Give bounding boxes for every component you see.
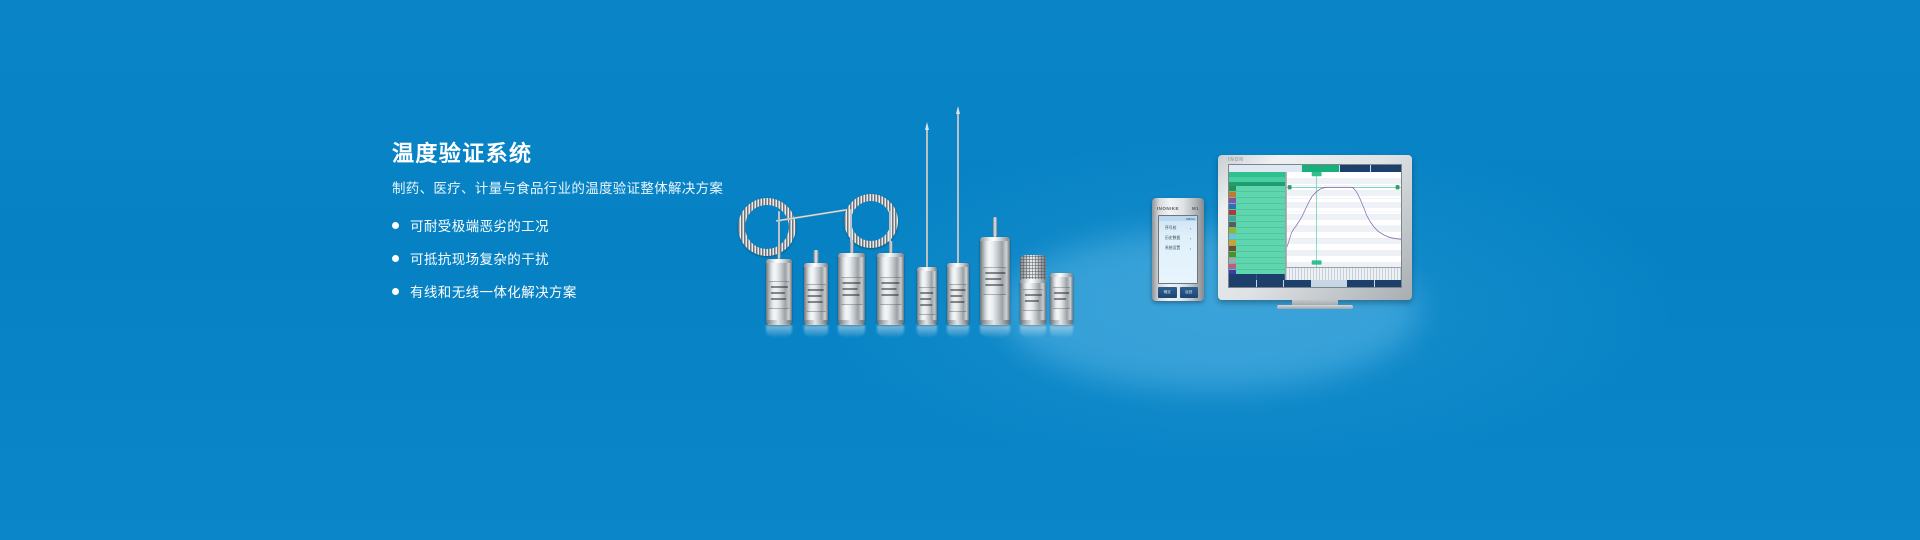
confirm-button[interactable] [1347,280,1374,287]
software-body [1229,172,1401,280]
temperature-chart [1286,172,1401,267]
probe-stem [778,251,781,259]
menu-item-label: 系统设置 [1165,246,1180,251]
reflection [947,325,969,338]
coiled-cable-icon [738,198,796,256]
marker-a-chip [1288,185,1292,189]
channel-color-swatch [1229,216,1236,221]
brand-label: INONIKE [1157,206,1179,211]
logger-label [919,287,935,315]
marker-b-chip [1396,185,1400,189]
logger-body [980,237,1010,325]
model-label: M1 [1192,206,1199,211]
logger-label [807,284,826,312]
logger-body [766,259,792,325]
chart-svg [1287,172,1401,267]
list-item [947,263,969,325]
cursor-end-chip [1312,260,1322,264]
logger-body [1050,273,1073,325]
horizontal-scrollbar[interactable] [1286,267,1401,280]
reflection [877,325,904,338]
menu-item[interactable]: 序号校 › [1165,226,1191,231]
tab-report[interactable] [1340,165,1370,172]
cursor-start-chip [1312,172,1322,176]
menu-item-label: 历史数据 [1165,236,1180,241]
channel-table [1229,186,1285,274]
chevron-right-icon: › [1190,227,1191,231]
channel-color-swatch [1229,204,1236,209]
chart-gridlines [1287,185,1401,252]
handheld-buttons: 确定 返回 [1158,287,1198,298]
software-bottom-bar [1229,280,1401,287]
logger-label [949,284,966,312]
channel-color-swatch [1229,258,1236,263]
reflection [804,325,828,338]
channel-color-swatch [1229,252,1236,257]
confirm-button[interactable]: 确定 [1158,287,1177,298]
list-item [766,259,792,325]
monitor-screen [1228,164,1402,288]
curve-down-button[interactable] [1284,280,1311,287]
channel-color-swatch [1229,228,1236,233]
channel-color-swatch [1229,234,1236,239]
monitor-brand: INON [1228,157,1244,163]
list-item [1050,273,1073,325]
product-group [720,110,1220,325]
logger-label [1023,289,1043,311]
reflection [980,325,1010,338]
menu-item-label: 序号校 [1165,226,1176,231]
tab-start-record[interactable] [1302,165,1338,172]
logger-label [880,277,901,305]
channel-color-swatch [1229,210,1236,215]
bullet-dot-icon [392,288,399,295]
chevron-right-icon: › [1190,237,1191,241]
feature-label: 有线和无线一体化解决方案 [410,281,577,301]
probe-stem [814,250,819,263]
logger-label [769,281,789,309]
handheld-screen-title: MENU [1159,216,1197,221]
logger-body [838,253,865,325]
list-item [1020,255,1046,325]
mesh-cap-icon [1020,255,1046,281]
handheld-brand: INONIKE M1 [1157,204,1199,213]
logger-body [1020,279,1046,325]
export-data-button[interactable] [1229,280,1256,287]
channel-color-swatch [1229,246,1236,251]
bullet-dot-icon [392,222,399,229]
logger-label [983,267,1006,295]
bottom-spacer [1312,280,1346,287]
reflection [1050,325,1073,338]
software-toolbar [1229,165,1401,172]
validation-software-monitor: INON [1218,155,1412,300]
exit-button[interactable] [1375,280,1402,287]
needle-probe-icon [957,113,959,263]
probe-stem [889,241,892,253]
back-button[interactable]: 返回 [1180,287,1199,298]
menu-item[interactable]: 历史数据 › [1165,236,1191,241]
handheld-reader[interactable]: INONIKE M1 MENU 序号校 › 历史数据 › 系统设置 › 确定 返… [1152,198,1204,301]
monitor-base [1277,305,1353,309]
channel-color-swatch [1229,198,1236,203]
channel-color-swatch [1229,222,1236,227]
reflection [917,325,937,338]
curve-up-button[interactable] [1257,280,1284,287]
reflection [838,325,865,338]
channel-color-swatch [1229,264,1236,269]
logger-body [877,253,904,325]
list-item [980,237,1010,325]
list-item [804,263,828,325]
list-item [838,253,865,325]
logger-body [947,263,969,325]
channel-color-swatch [1229,186,1236,191]
menu-item[interactable]: 系统设置 › [1165,246,1191,251]
feature-label: 可耐受极端恶劣的工况 [410,215,549,235]
logger-label [841,277,862,305]
logger-label [1053,287,1071,309]
handheld-screen[interactable]: MENU 序号校 › 历史数据 › 系统设置 › [1158,215,1198,284]
list-item [917,267,937,325]
reflection [766,325,792,338]
logger-body [804,263,828,325]
probe-stem [850,241,853,253]
channel-color-swatch [1229,192,1236,197]
needle-probe-icon [926,129,928,267]
hero-banner: 温度验证系统 制药、医疗、计量与食品行业的温度验证整体解决方案 可耐受极端恶劣的… [0,0,1920,540]
reflection [1020,325,1046,338]
tab-help[interactable] [1371,165,1401,172]
toolbar-spacer [1229,165,1301,172]
probe-stem [993,217,997,237]
channel-color-swatch [1229,240,1236,245]
list-item [877,253,904,325]
chart-panel [1286,172,1401,280]
chevron-right-icon: › [1190,247,1191,251]
channel-sidebar [1229,172,1286,280]
logger-body [917,267,937,325]
bullet-dot-icon [392,255,399,262]
chart-series-line [1287,187,1401,247]
feature-label: 可抵抗现场复杂的干扰 [410,248,549,268]
